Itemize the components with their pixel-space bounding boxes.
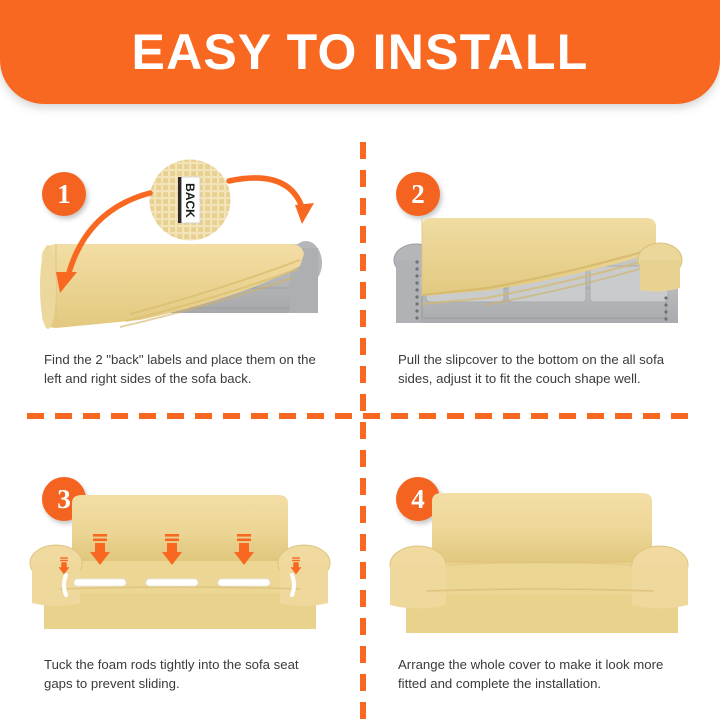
step-1-illustration: BACK [0, 148, 360, 348]
step-cell-2: 2 [360, 110, 720, 415]
step-4-illustration [360, 453, 720, 653]
divider-vertical [360, 142, 366, 720]
step-cell-3: 3 [0, 415, 360, 720]
magnifier-back-label: BACK [148, 158, 232, 242]
step-4-caption: Arrange the whole cover to make it look … [398, 655, 673, 694]
steps-grid: 1 [0, 110, 720, 720]
covered-sofa-body [30, 495, 330, 629]
step-cell-1: 1 [0, 110, 360, 415]
step-2-caption: Pull the slipcover to the bottom on the … [398, 350, 673, 389]
step-cell-4: 4 [360, 415, 720, 720]
svg-text:BACK: BACK [183, 183, 197, 218]
step-3-illustration [0, 453, 360, 653]
step-2-illustration [360, 148, 720, 348]
step-1-caption: Find the 2 "back" labels and place them … [44, 350, 319, 389]
step-3-caption: Tuck the foam rods tightly into the sofa… [44, 655, 319, 694]
yellow-slipcover-drape [40, 244, 304, 329]
curved-arrow-right-icon [229, 178, 314, 224]
finished-sofa [390, 493, 688, 633]
page-title: EASY TO INSTALL [132, 27, 589, 77]
header-banner: EASY TO INSTALL [0, 0, 720, 104]
